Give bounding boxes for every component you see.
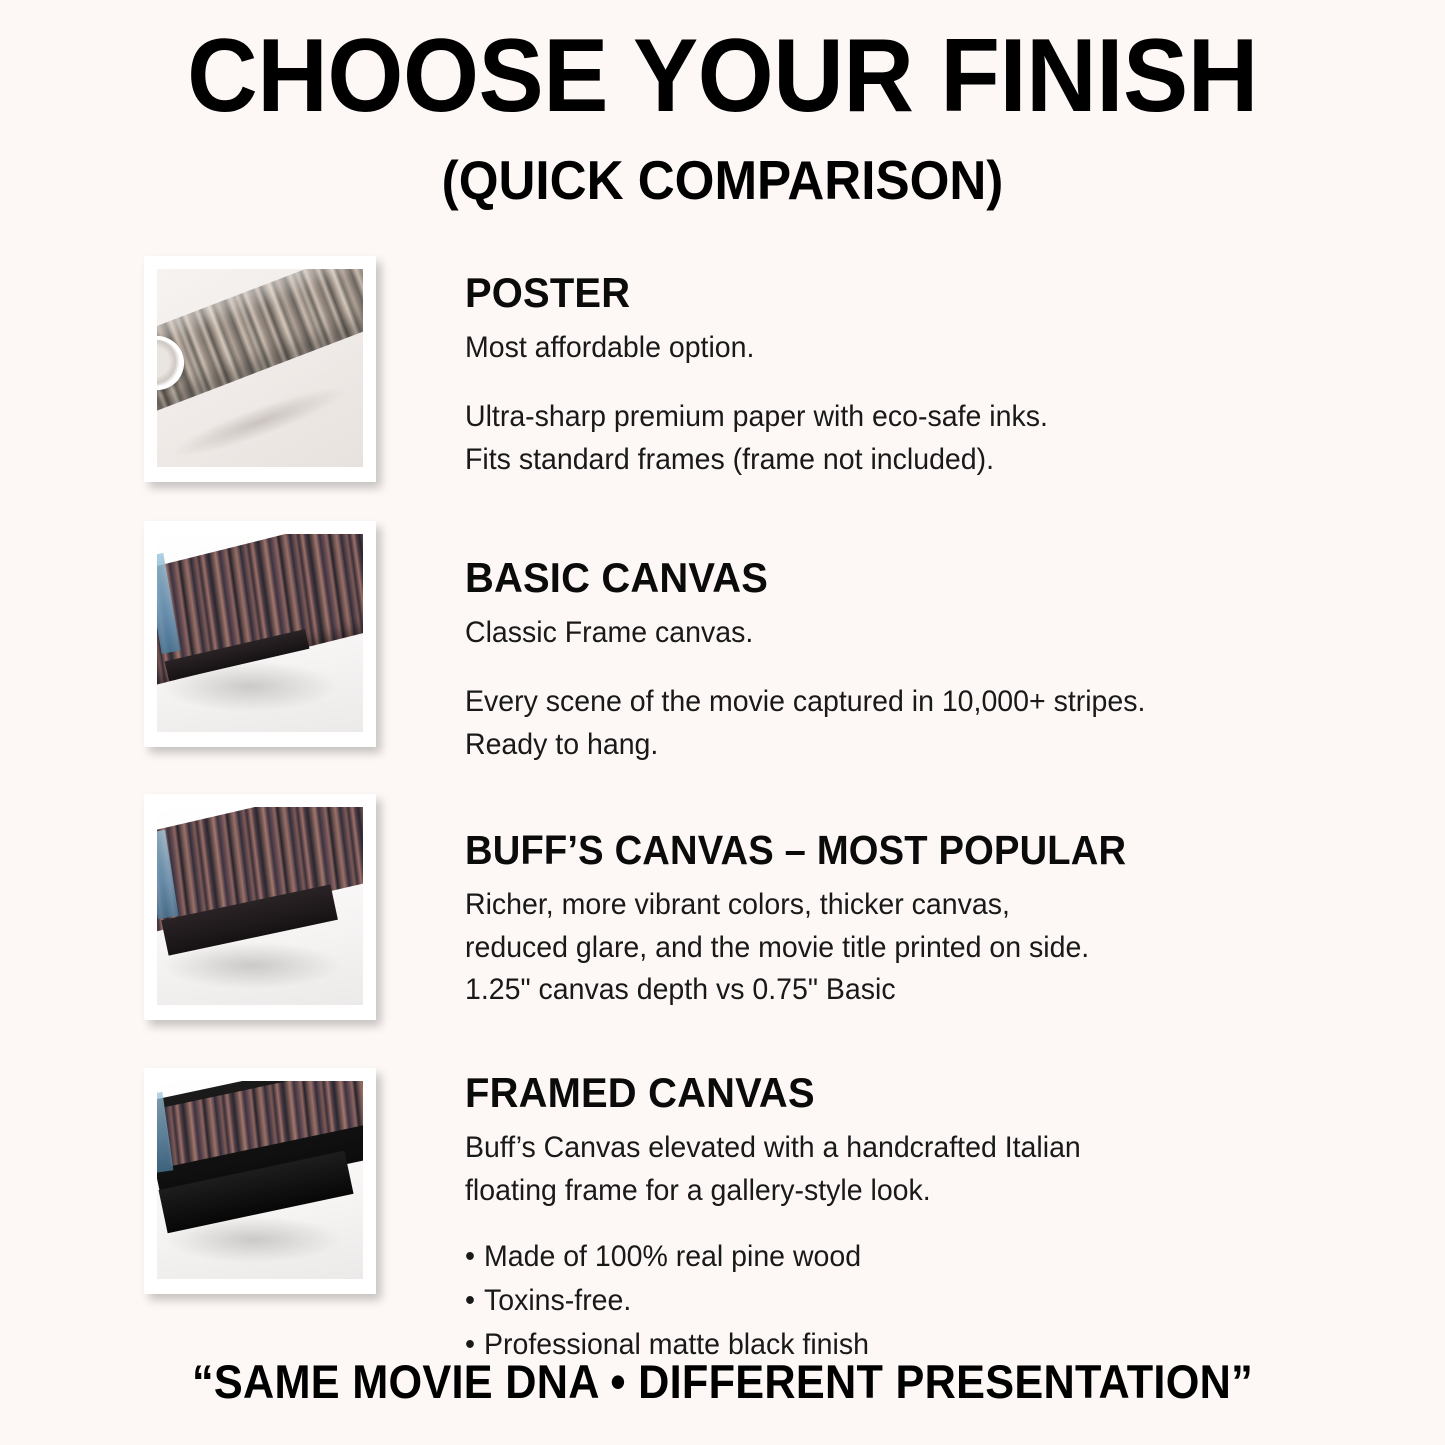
basic-canvas-text-block: BASIC CANVAS Classic Frame canvas. Every…: [465, 555, 1425, 766]
list-item: • Toxins-free.: [465, 1279, 1377, 1323]
buffs-canvas-heading: BUFF’S CANVAS – MOST POPULAR: [465, 828, 1358, 872]
page-subtitle: (QUICK COMPARISON): [51, 146, 1395, 215]
finish-option-buffs-canvas: BUFF’S CANVAS – MOST POPULAR Richer, mor…: [0, 786, 1445, 1018]
basic-canvas-photo-card: [144, 521, 376, 747]
framed-canvas-photo-card: [144, 1068, 376, 1294]
framed-canvas-text-block: FRAMED CANVAS Buff’s Canvas elevated wit…: [465, 1070, 1425, 1368]
finish-option-poster: POSTER Most affordable option. Ultra-sha…: [0, 248, 1445, 480]
footer: “SAME MOVIE DNA • DIFFERENT PRESENTATION…: [0, 1354, 1445, 1409]
page-title: CHOOSE YOUR FINISH: [43, 22, 1401, 130]
basic-canvas-heading: BASIC CANVAS: [465, 555, 1377, 600]
basic-canvas-line-1: Classic Frame canvas.: [465, 612, 1377, 655]
poster-heading: POSTER: [465, 270, 1377, 315]
buffs-canvas-line-1: Richer, more vibrant colors, thicker can…: [465, 884, 1377, 927]
buffs-canvas-photo: [157, 807, 363, 1005]
framed-canvas-line-1: Buff’s Canvas elevated with a handcrafte…: [465, 1127, 1377, 1170]
buffs-canvas-line-2: reduced glare, and the movie title print…: [465, 927, 1377, 970]
buffs-canvas-line-3: 1.25" canvas depth vs 0.75" Basic: [465, 969, 1377, 1012]
poster-line-1: Most affordable option.: [465, 327, 1377, 370]
bullet-label: Made of 100% real pine wood: [484, 1235, 861, 1279]
finish-option-framed-canvas: FRAMED CANVAS Buff’s Canvas elevated wit…: [0, 1060, 1445, 1292]
poster-line-2: Ultra-sharp premium paper with eco-safe …: [465, 396, 1377, 439]
basic-canvas-line-3: Ready to hang.: [465, 724, 1377, 767]
footer-tagline: “SAME MOVIE DNA • DIFFERENT PRESENTATION…: [58, 1354, 1387, 1409]
infographic-page: CHOOSE YOUR FINISH (QUICK COMPARISON) PO…: [0, 0, 1445, 1445]
framed-canvas-photo: [157, 1081, 363, 1279]
bullet-label: Toxins-free.: [484, 1279, 631, 1323]
rolled-poster-photo: [157, 269, 363, 467]
header: CHOOSE YOUR FINISH (QUICK COMPARISON): [0, 0, 1445, 215]
poster-photo-card: [144, 256, 376, 482]
framed-canvas-bullet-list: • Made of 100% real pine wood • Toxins-f…: [465, 1235, 1425, 1368]
bullet-dot-icon: •: [465, 1279, 484, 1323]
buffs-canvas-text-block: BUFF’S CANVAS – MOST POPULAR Richer, mor…: [465, 828, 1425, 1012]
poster-text-block: POSTER Most affordable option. Ultra-sha…: [465, 270, 1425, 481]
basic-canvas-photo: [157, 534, 363, 732]
finish-option-basic-canvas: BASIC CANVAS Classic Frame canvas. Every…: [0, 513, 1445, 745]
framed-canvas-line-2: floating frame for a gallery-style look.: [465, 1170, 1377, 1213]
basic-canvas-line-2: Every scene of the movie captured in 10,…: [465, 681, 1377, 724]
bullet-dot-icon: •: [465, 1235, 484, 1279]
list-item: • Made of 100% real pine wood: [465, 1235, 1377, 1279]
poster-line-3: Fits standard frames (frame not included…: [465, 439, 1377, 482]
framed-canvas-heading: FRAMED CANVAS: [465, 1070, 1377, 1115]
buffs-canvas-photo-card: [144, 794, 376, 1020]
